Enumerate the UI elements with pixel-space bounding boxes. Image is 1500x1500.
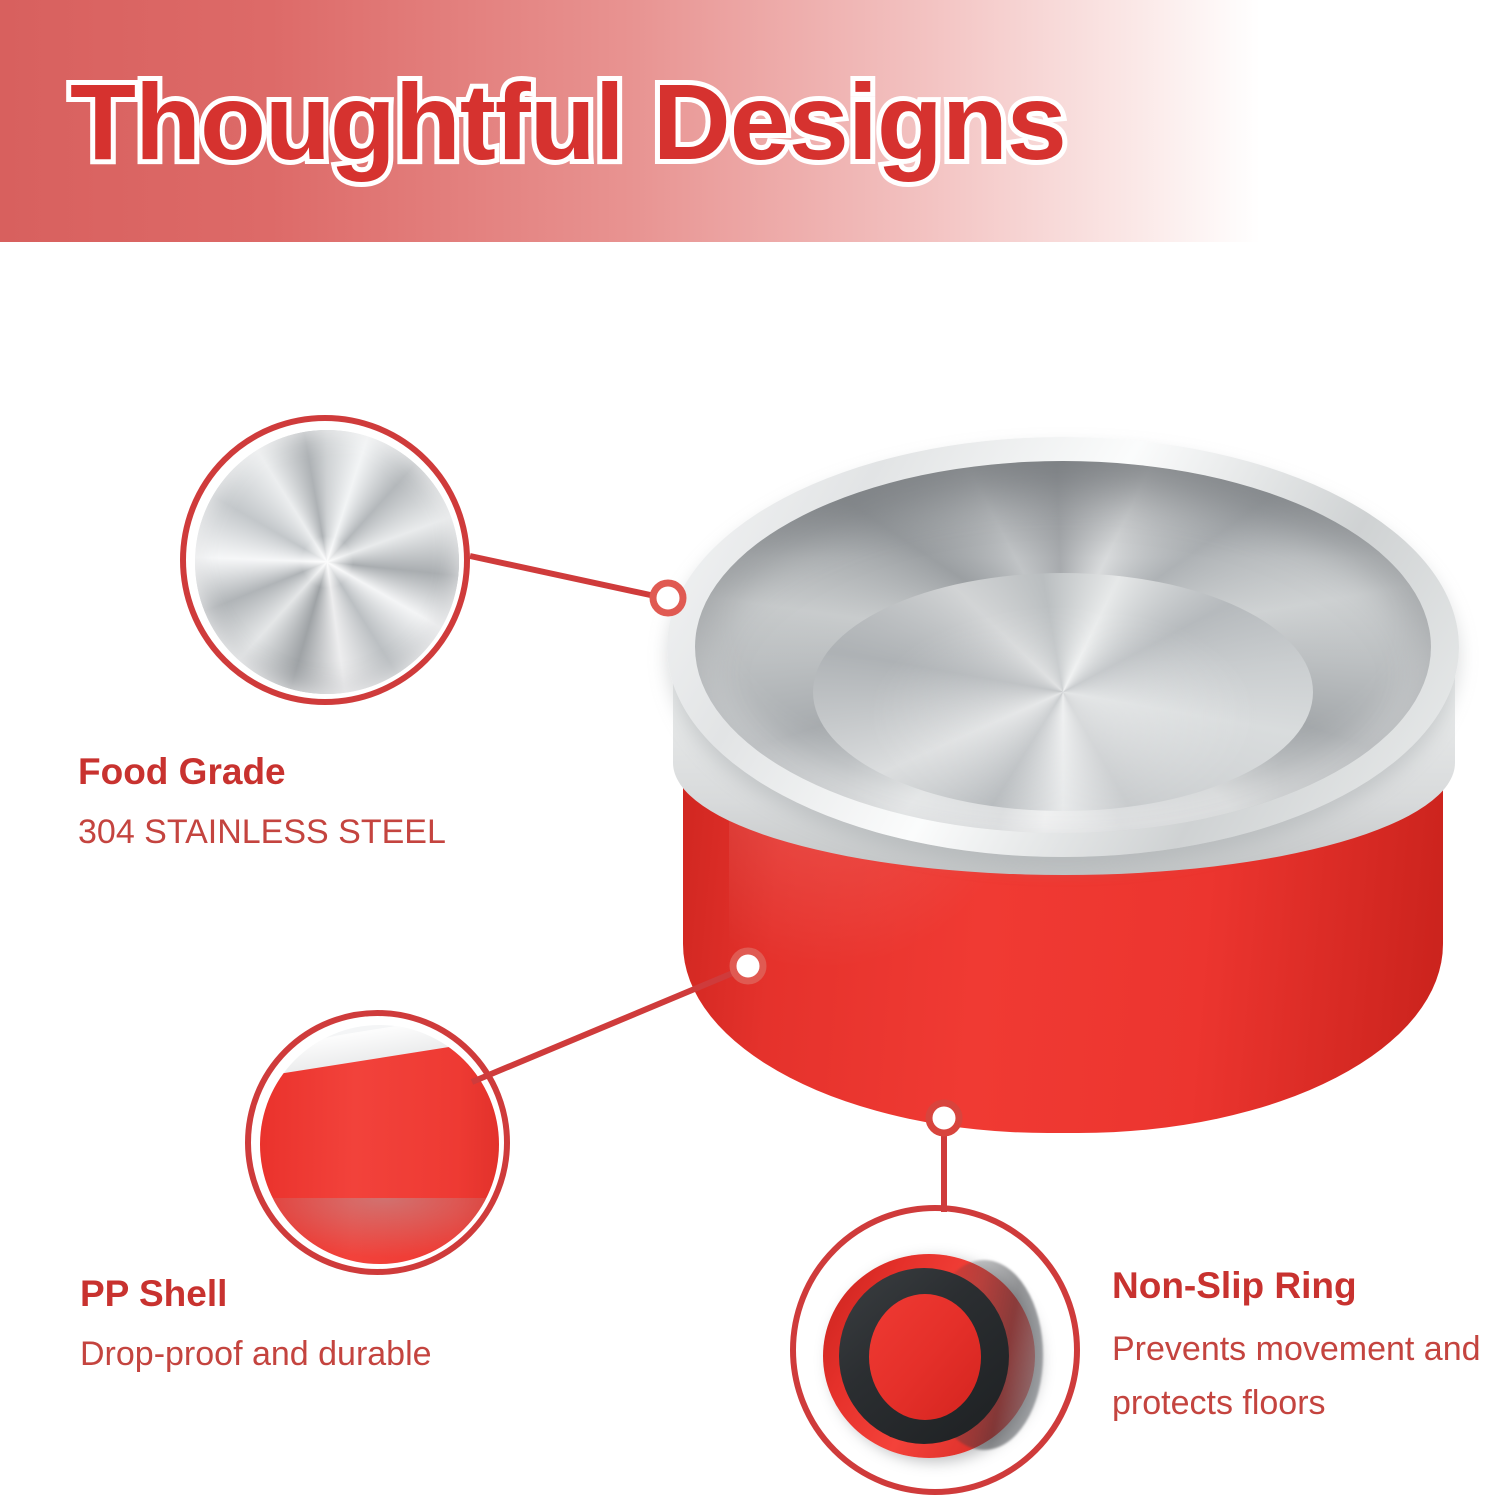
shell-shadow <box>260 1198 499 1258</box>
brushed-steel-disc-icon <box>195 430 459 694</box>
product-bowl-image <box>655 415 1470 1135</box>
pp-shell-closeup-icon <box>260 1025 499 1264</box>
callout-circle-food-grade <box>180 415 470 705</box>
feature-description: 304 STAINLESS STEEL <box>78 808 446 856</box>
feature-description-line1: Prevents movement and <box>1112 1322 1482 1376</box>
feature-title: Food Grade <box>78 748 446 796</box>
feature-food-grade: Food Grade 304 STAINLESS STEEL <box>78 748 446 856</box>
feature-title: PP Shell <box>80 1270 432 1318</box>
infographic-stage: Thoughtful Designs <box>0 0 1500 1500</box>
base-inner-red <box>869 1294 981 1420</box>
connector-line-food-grade <box>470 556 655 596</box>
header-band: Thoughtful Designs <box>0 0 1500 242</box>
feature-description: Drop-proof and durable <box>80 1330 432 1378</box>
page-title: Thoughtful Designs <box>70 62 1066 182</box>
feature-description-line2: protects floors <box>1112 1376 1482 1430</box>
non-slip-ring-base-icon <box>805 1220 1069 1484</box>
callout-circle-non-slip-ring <box>790 1205 1080 1495</box>
callout-circle-pp-shell <box>245 1010 510 1275</box>
feature-pp-shell: PP Shell Drop-proof and durable <box>80 1270 432 1378</box>
feature-description: Prevents movement and protects floors <box>1112 1322 1482 1430</box>
feature-non-slip-ring: Non-Slip Ring Prevents movement and prot… <box>1112 1262 1482 1430</box>
bowl-interior-shadow <box>695 461 1431 833</box>
feature-title: Non-Slip Ring <box>1112 1262 1482 1310</box>
